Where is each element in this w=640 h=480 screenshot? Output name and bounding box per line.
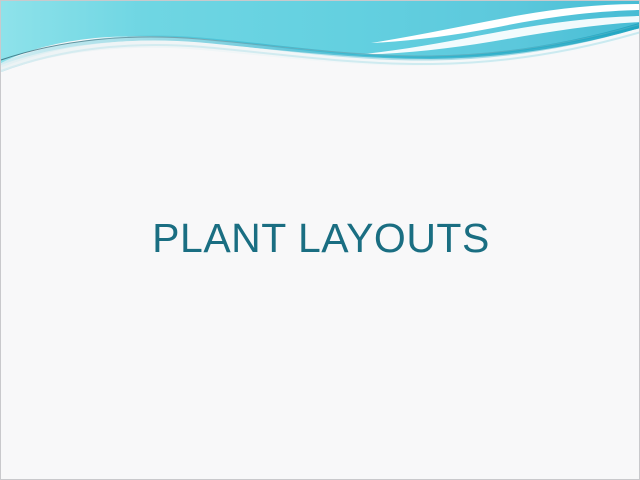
page-title: PLANT LAYOUTS (152, 216, 490, 261)
slide-canvas: PLANT LAYOUTS (0, 0, 640, 480)
title-block: PLANT LAYOUTS (1, 1, 640, 480)
